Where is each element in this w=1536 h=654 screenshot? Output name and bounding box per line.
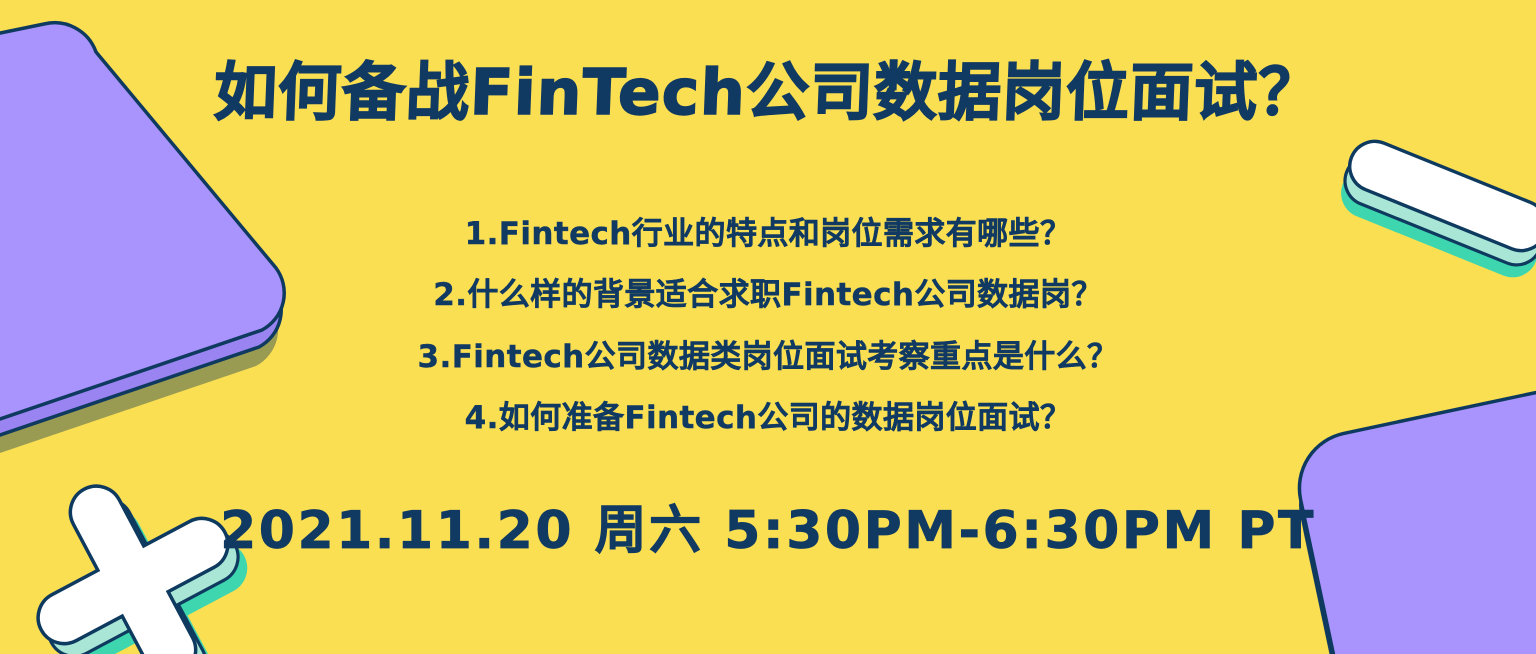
banner-content: 如何备战FinTech公司数据岗位面试？ 1.Fintech行业的特点和岗位需求… [0,0,1536,654]
agenda-item-3: 3.Fintech公司数据类岗位面试考察重点是什么？ [418,331,1119,384]
agenda-item-2: 2.什么样的背景适合求职Fintech公司数据岗？ [433,269,1103,322]
agenda-list: 1.Fintech行业的特点和岗位需求有哪些？ 2.什么样的背景适合求职Fint… [0,208,1536,445]
page-title: 如何备战FinTech公司数据岗位面试？ [0,58,1536,129]
event-banner: 如何备战FinTech公司数据岗位面试？ 1.Fintech行业的特点和岗位需求… [0,0,1536,654]
agenda-item-1: 1.Fintech行业的特点和岗位需求有哪些？ [465,208,1072,261]
event-datetime: 2021.11.20 周六 5:30PM-6:30PM PT [0,488,1536,563]
agenda-item-4: 4.如何准备Fintech公司的数据岗位面试？ [465,392,1072,445]
